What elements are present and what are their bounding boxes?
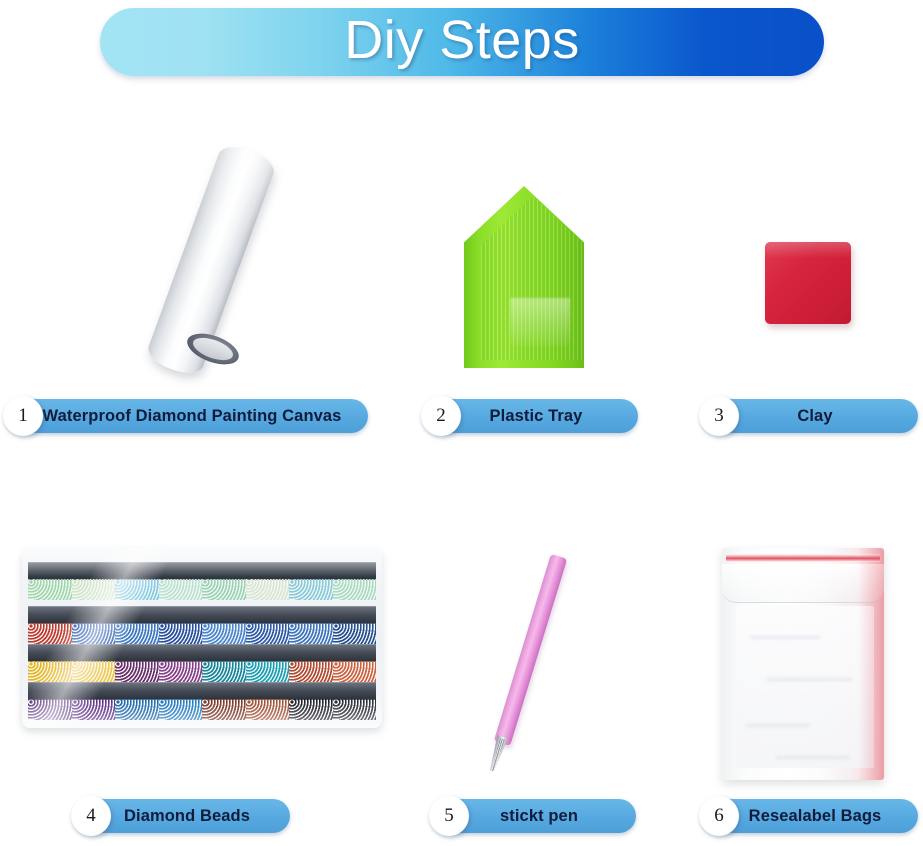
bead-sachet-contents (246, 661, 290, 682)
bead-sachet (28, 644, 72, 682)
zip-bag-crease (776, 756, 850, 759)
zip-bag-seal-strip (726, 554, 880, 562)
bead-sachet-foil (28, 606, 72, 624)
bead-sachet-contents (72, 699, 116, 720)
step-label-1[interactable]: 1 Waterproof Diamond Painting Canvas (4, 399, 368, 433)
bead-sachet-contents (115, 699, 159, 720)
bead-sachet-row (28, 562, 376, 600)
step-label-5[interactable]: 5 stickt pen (430, 799, 636, 833)
bead-sachet-foil (289, 562, 333, 580)
bead-sachet (333, 562, 377, 600)
bead-sachet-foil (333, 682, 377, 700)
bead-sachet-contents (115, 579, 159, 600)
bead-sachet-foil (159, 644, 203, 662)
bead-sachet-contents (333, 623, 377, 644)
bead-sachet-contents (333, 661, 377, 682)
bead-sachet-foil (246, 644, 290, 662)
zip-bag-crease (746, 724, 810, 727)
bead-sachet-foil (246, 562, 290, 580)
bead-sachet-contents (246, 623, 290, 644)
zip-bag-crease (750, 636, 820, 639)
bead-sachet-foil (115, 644, 159, 662)
bead-sachet (289, 682, 333, 720)
bead-sachet-foil (72, 644, 116, 662)
pink-drill-pen-photo (470, 540, 600, 780)
bead-sachet-contents (28, 661, 72, 682)
bead-sachet-foil (28, 562, 72, 580)
bead-sachet-contents (159, 699, 203, 720)
bead-sachet-foil (246, 682, 290, 700)
bead-sachet-foil (159, 562, 203, 580)
bead-sachet-contents (115, 623, 159, 644)
resealable-zip-bag-photo (722, 548, 892, 786)
step-label-text-1: Waterproof Diamond Painting Canvas (4, 407, 368, 426)
rolled-canvas-photo (120, 150, 330, 380)
bead-sachet-foil (202, 606, 246, 624)
bead-sachet (159, 606, 203, 644)
bead-sachet-foil (202, 644, 246, 662)
bead-sachet (72, 606, 116, 644)
zip-bag-red-edge (858, 548, 884, 780)
bead-sachet (333, 606, 377, 644)
bead-sachet-foil (289, 682, 333, 700)
bead-sachet-contents (246, 579, 290, 600)
page-title: Diy Steps (344, 13, 580, 72)
bead-sachet-foil (115, 562, 159, 580)
bead-sachet-foil (115, 682, 159, 700)
bead-sachet (159, 682, 203, 720)
bead-sachet (333, 682, 377, 720)
bead-sachet-foil (289, 644, 333, 662)
tray-highlight (510, 298, 570, 346)
bead-sachet-contents (289, 623, 333, 644)
bead-sachet (289, 644, 333, 682)
bead-sachet-contents (72, 579, 116, 600)
bead-sachet-contents (289, 699, 333, 720)
bead-sachet (202, 682, 246, 720)
bead-sachet-contents (333, 699, 377, 720)
bead-sachet (72, 562, 116, 600)
bead-sachet-foil (333, 562, 377, 580)
bead-sachet (72, 644, 116, 682)
bead-sachet-row (28, 682, 376, 720)
clay-block (765, 242, 851, 324)
bead-sachet (115, 606, 159, 644)
bead-sachet-contents (72, 623, 116, 644)
bead-sachet (289, 606, 333, 644)
bead-sachet (28, 606, 72, 644)
bead-sachet-contents (28, 579, 72, 600)
step-number-6: 6 (699, 796, 739, 836)
bead-sachet (159, 644, 203, 682)
bead-sachet-contents (333, 579, 377, 600)
bead-sachet-contents (246, 699, 290, 720)
step-number-5: 5 (429, 796, 469, 836)
bead-sachet-foil (202, 562, 246, 580)
bead-sachet-contents (159, 661, 203, 682)
bead-sachet-contents (115, 661, 159, 682)
bead-sachet-foil (202, 682, 246, 700)
bead-sachet-row (28, 644, 376, 682)
red-clay-square-photo (757, 236, 867, 340)
bead-sachet-row (28, 606, 376, 644)
bead-sachet (115, 644, 159, 682)
step-label-4[interactable]: 4 Diamond Beads (72, 799, 290, 833)
step-label-3[interactable]: 3 Clay (700, 399, 918, 433)
zip-bag-crease (766, 678, 852, 681)
bead-sachet-contents (72, 661, 116, 682)
pen-barrel (494, 554, 568, 746)
bead-sachet (72, 682, 116, 720)
step-label-6[interactable]: 6 Resealabel Bags (700, 799, 918, 833)
header-banner: Diy Steps (100, 8, 824, 76)
bead-sachet-foil (28, 682, 72, 700)
bead-sachet-foil (333, 606, 377, 624)
bead-sachet (333, 644, 377, 682)
bead-sachet-contents (289, 579, 333, 600)
bead-sachet (289, 562, 333, 600)
bead-sachet (246, 682, 290, 720)
bead-sachet (246, 606, 290, 644)
zip-bag-body (736, 606, 874, 768)
bead-sachet (115, 682, 159, 720)
bead-sachet-foil (159, 682, 203, 700)
clay-highlight (765, 242, 851, 258)
step-number-3: 3 (699, 396, 739, 436)
bead-sachet-contents (159, 623, 203, 644)
bead-sachet-contents (159, 579, 203, 600)
beads-bag (22, 548, 382, 728)
bead-sachet (28, 682, 72, 720)
bead-sachet-contents (289, 661, 333, 682)
bead-sachet (246, 562, 290, 600)
step-number-2: 2 (421, 396, 461, 436)
bead-sachet (202, 606, 246, 644)
bead-sachet-foil (289, 606, 333, 624)
bead-sachet (202, 644, 246, 682)
bead-sachet (246, 644, 290, 682)
bead-sachet-contents (202, 699, 246, 720)
diamond-beads-bag-photo (22, 548, 387, 733)
bead-sachet-contents (202, 661, 246, 682)
green-plastic-tray-photo (455, 186, 595, 372)
step-number-1: 1 (3, 396, 43, 436)
bead-sachet-foil (72, 606, 116, 624)
step-label-2[interactable]: 2 Plastic Tray (422, 399, 638, 433)
bead-sachet-foil (246, 606, 290, 624)
bead-sachet-foil (159, 606, 203, 624)
bead-sachet-foil (72, 682, 116, 700)
bead-sachet-contents (28, 699, 72, 720)
step-number-4: 4 (71, 796, 111, 836)
bead-sachet (115, 562, 159, 600)
bead-sachet-foil (115, 606, 159, 624)
bead-sachet-contents (202, 623, 246, 644)
bead-sachet-foil (28, 644, 72, 662)
bead-sachet (28, 562, 72, 600)
bead-sachet-contents (28, 623, 72, 644)
zip-bag (722, 548, 884, 780)
bead-sachet-foil (72, 562, 116, 580)
bead-sachet (202, 562, 246, 600)
bead-sachet-foil (333, 644, 377, 662)
tray-shell (464, 186, 584, 368)
bead-sachet-contents (202, 579, 246, 600)
bead-sachet (159, 562, 203, 600)
